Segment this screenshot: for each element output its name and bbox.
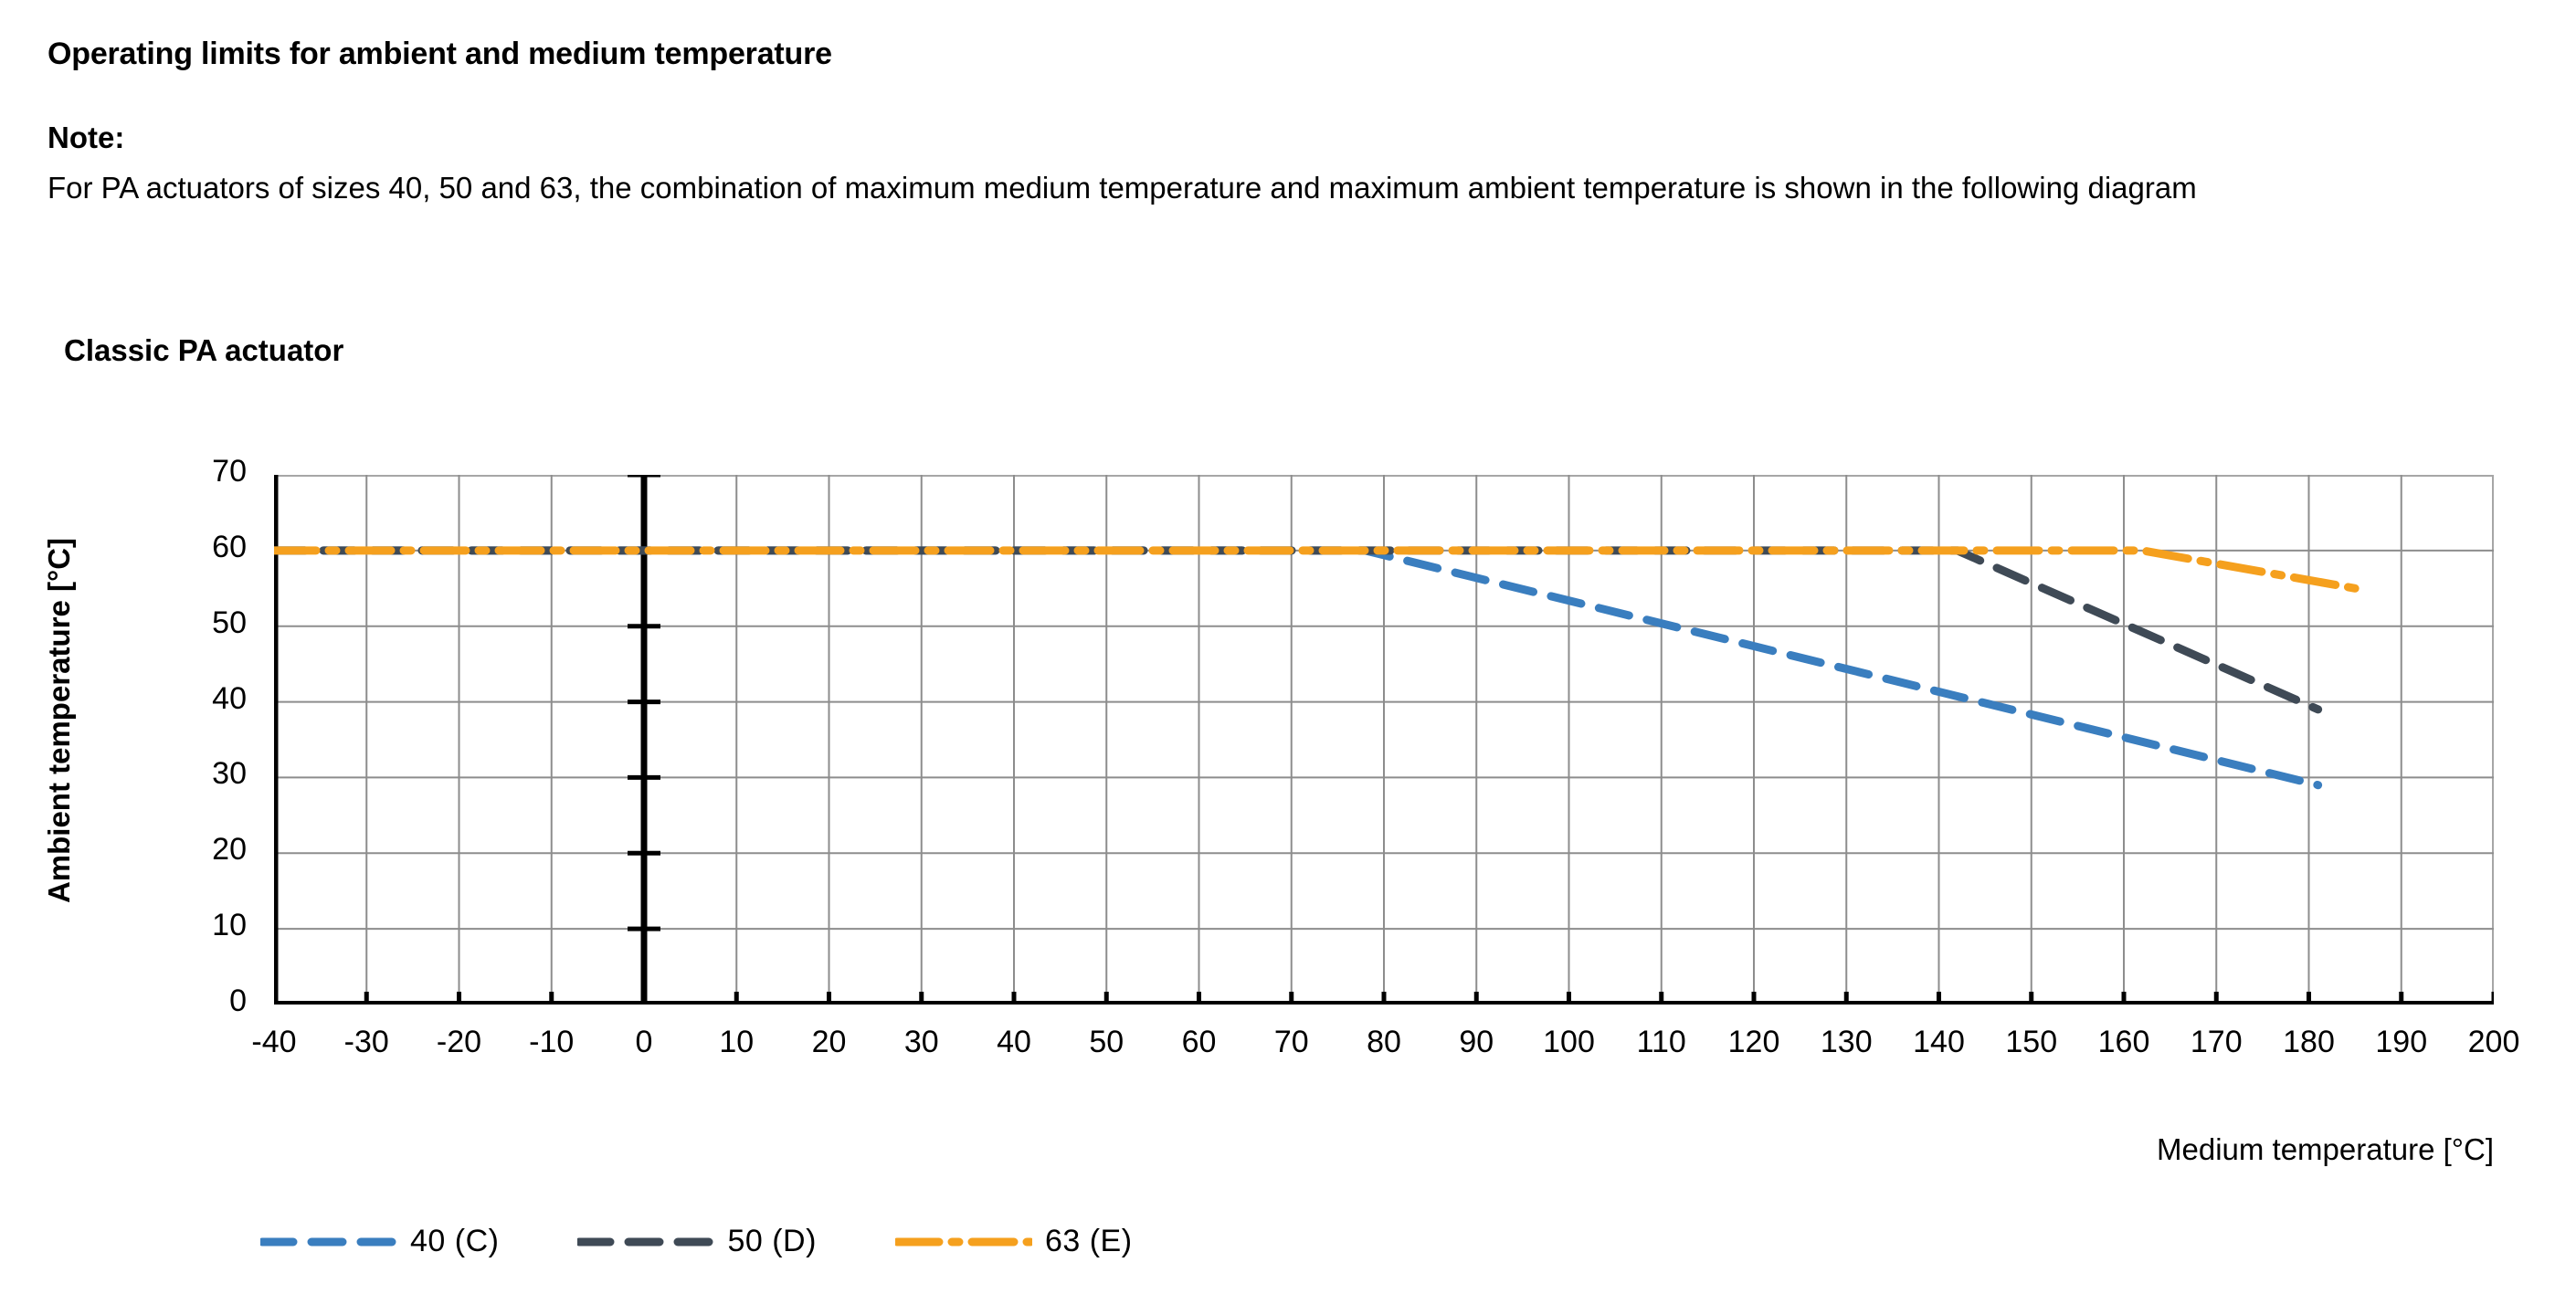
legend-label: 63 (E) — [1045, 1224, 1133, 1259]
y-axis-label: Ambient temperature [°C] — [42, 465, 77, 976]
page-title: Operating limits for ambient and medium … — [48, 37, 832, 72]
legend-label: 50 (D) — [727, 1224, 816, 1259]
chart-legend: 40 (C)50 (D)63 (E) — [260, 1224, 1133, 1259]
y-tick-label: 60 — [137, 530, 247, 565]
plot-canvas — [274, 475, 2494, 1005]
y-tick-label: 20 — [137, 832, 247, 868]
legend-item[interactable]: 50 (D) — [577, 1224, 816, 1259]
series-line-63e — [274, 551, 2355, 588]
section-title: Classic PA actuator — [64, 333, 343, 368]
note-label: Note: — [48, 121, 124, 155]
series-line-40c — [274, 551, 2318, 785]
legend-swatch-63e — [895, 1232, 1032, 1252]
y-tick-label: 70 — [137, 454, 247, 489]
page-root: Operating limits for ambient and medium … — [0, 0, 2576, 1315]
y-tick-label: 0 — [137, 984, 247, 1019]
legend-item[interactable]: 63 (E) — [895, 1224, 1133, 1259]
series-line-50d — [274, 551, 2318, 710]
legend-item[interactable]: 40 (C) — [260, 1224, 499, 1259]
note-body: For PA actuators of sizes 40, 50 and 63,… — [48, 170, 2514, 206]
y-tick-label: 50 — [137, 605, 247, 641]
y-tick-label: 30 — [137, 756, 247, 792]
chart-container: Ambient temperature [°C] 010203040506070… — [0, 429, 2576, 1315]
x-axis-label: Medium temperature [°C] — [2157, 1132, 2494, 1167]
legend-swatch-50d — [577, 1232, 714, 1252]
y-tick-label: 10 — [137, 908, 247, 943]
y-tick-label: 40 — [137, 681, 247, 717]
x-tick-label: 200 — [2439, 1025, 2549, 1060]
legend-swatch-40c — [260, 1232, 397, 1252]
legend-label: 40 (C) — [410, 1224, 499, 1259]
